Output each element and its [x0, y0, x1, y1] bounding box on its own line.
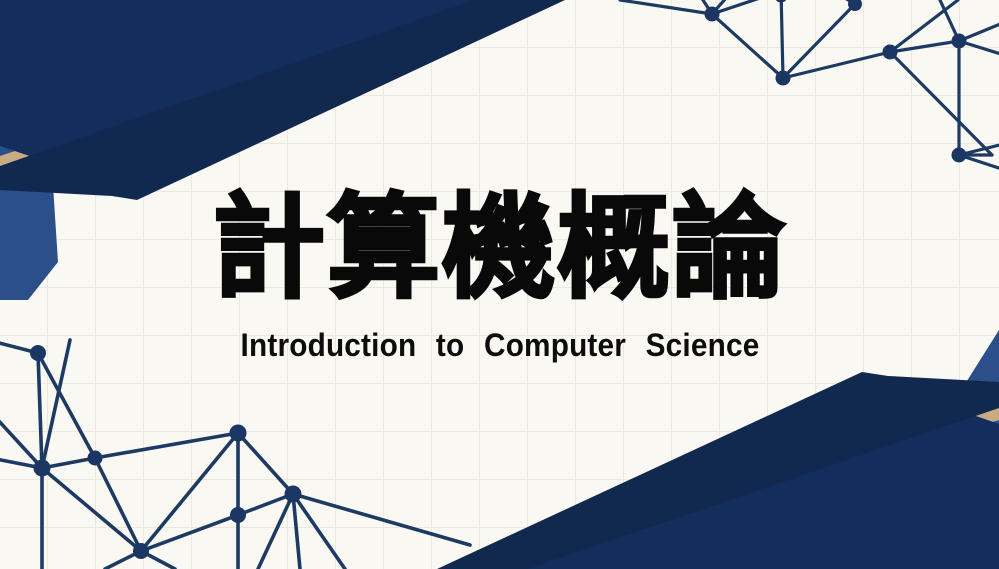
- slide-subtitle: Introduction to Computer Science: [240, 327, 759, 364]
- presentation-slide: 計算機概論 Introduction to Computer Science: [0, 0, 999, 569]
- slide-title: 計算機概論: [212, 192, 787, 305]
- title-block: 計算機概論 Introduction to Computer Science: [0, 0, 999, 569]
